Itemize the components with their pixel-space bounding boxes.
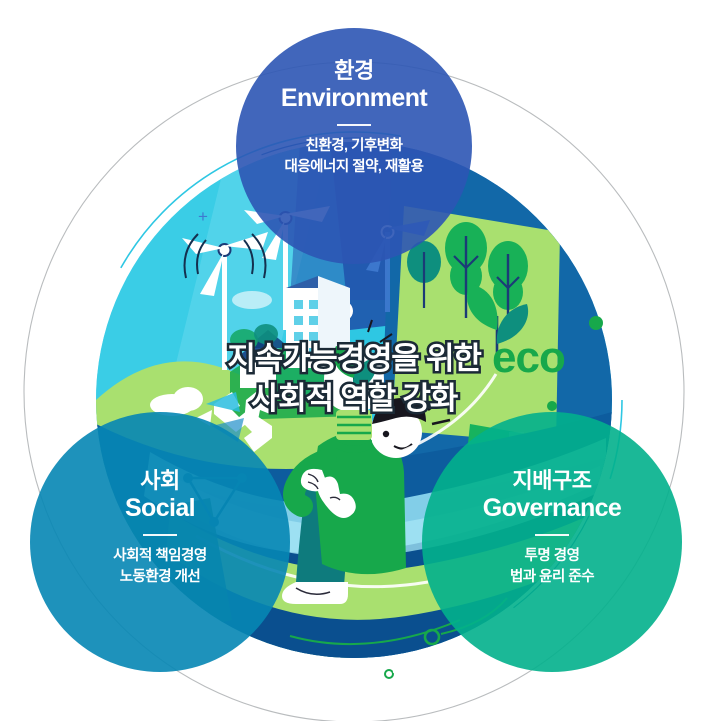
circle-governance	[422, 412, 682, 672]
dot-accent	[547, 401, 557, 411]
ring-accent	[385, 670, 393, 678]
infographic-artwork: +	[0, 0, 708, 721]
tree-icon	[230, 329, 258, 351]
plus-icon: +	[198, 207, 208, 226]
dot-accent	[589, 316, 603, 330]
circle-social	[30, 412, 290, 672]
esg-infographic: +	[0, 0, 708, 721]
circle-environment	[236, 28, 472, 264]
cloud-icon	[232, 291, 272, 309]
tree-icon	[254, 324, 278, 344]
